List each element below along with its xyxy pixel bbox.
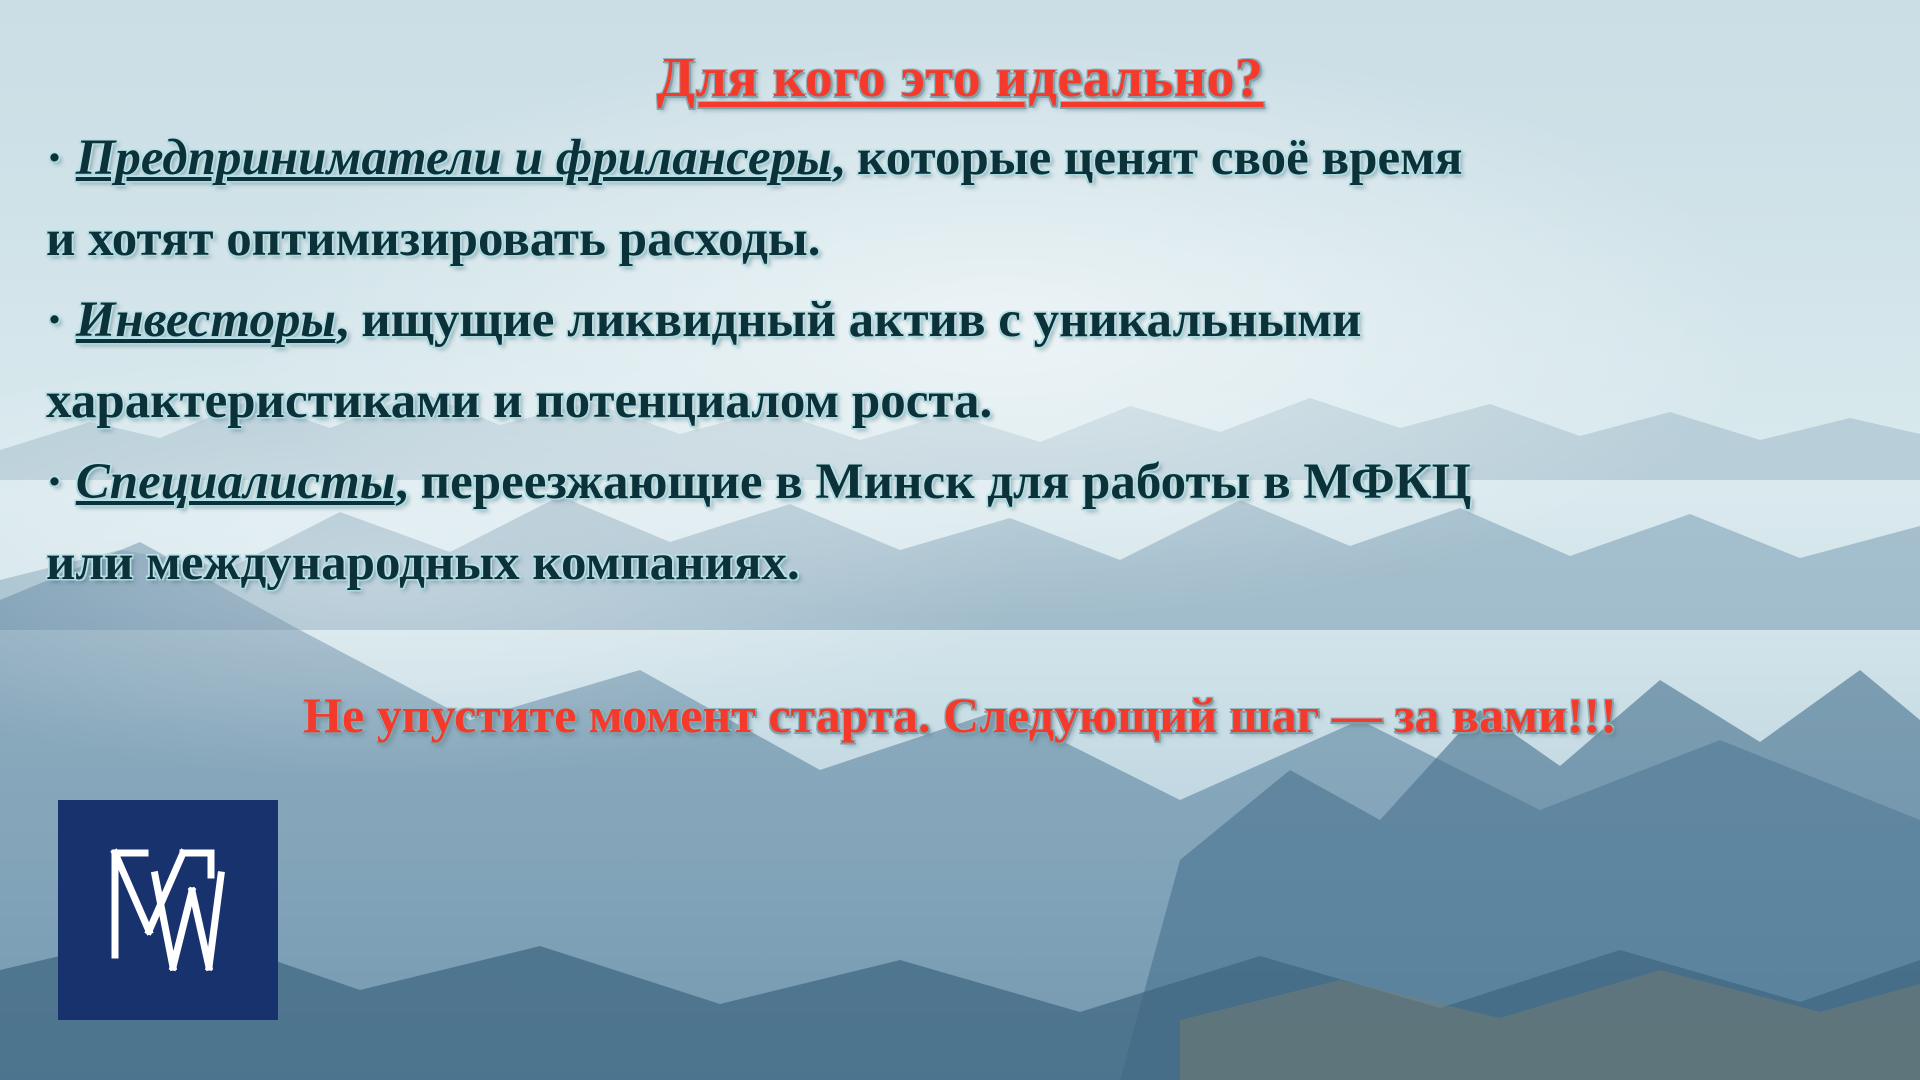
body-line-4: характеристиками и потенциалом роста. xyxy=(46,361,1896,442)
body-line-6: или международных компаниях. xyxy=(46,523,1896,604)
body-line-3: · Инвесторы, ищущие ликвидный актив с ун… xyxy=(46,280,1896,361)
emphasis-specialists: Специалисты xyxy=(76,454,395,510)
body-line-5: · Специалисты, переезжающие в Минск для … xyxy=(46,442,1896,523)
body-text-3: , ищущие ликвидный актив с уникальными xyxy=(336,292,1361,348)
slide-content: Для кого это идеально? · Предприниматели… xyxy=(0,0,1920,1080)
promo-slide: Для кого это идеально? · Предприниматели… xyxy=(0,0,1920,1080)
slide-title-text: Для кого это идеально? xyxy=(656,47,1263,109)
body-text-2: и хотят оптимизировать расходы. xyxy=(46,211,821,267)
emphasis-investors: Инвесторы xyxy=(76,292,336,348)
brand-logo xyxy=(58,800,278,1020)
bullet-marker-5: · xyxy=(46,454,76,510)
body-text-4: характеристиками и потенциалом роста. xyxy=(46,373,992,429)
body-line-2: и хотят оптимизировать расходы. xyxy=(46,199,1896,280)
body-text-5: , переезжающие в Минск для работы в МФКЦ xyxy=(395,454,1471,510)
body-text-1: , которые ценят своё время xyxy=(832,130,1463,186)
call-to-action-text: Не упустите момент старта. Следующий шаг… xyxy=(0,686,1920,744)
body-line-1: · Предприниматели и фрилансеры, которые … xyxy=(46,118,1896,199)
bullet-marker-1: · xyxy=(46,130,76,186)
emphasis-entrepreneurs: Предприниматели и фрилансеры xyxy=(76,130,832,186)
body-text-6: или международных компаниях. xyxy=(46,535,800,591)
bullet-marker-3: · xyxy=(46,292,76,348)
body-text-block: · Предприниматели и фрилансеры, которые … xyxy=(46,118,1896,604)
mw-monogram-icon xyxy=(93,835,243,985)
slide-title: Для кого это идеально? xyxy=(0,46,1920,110)
